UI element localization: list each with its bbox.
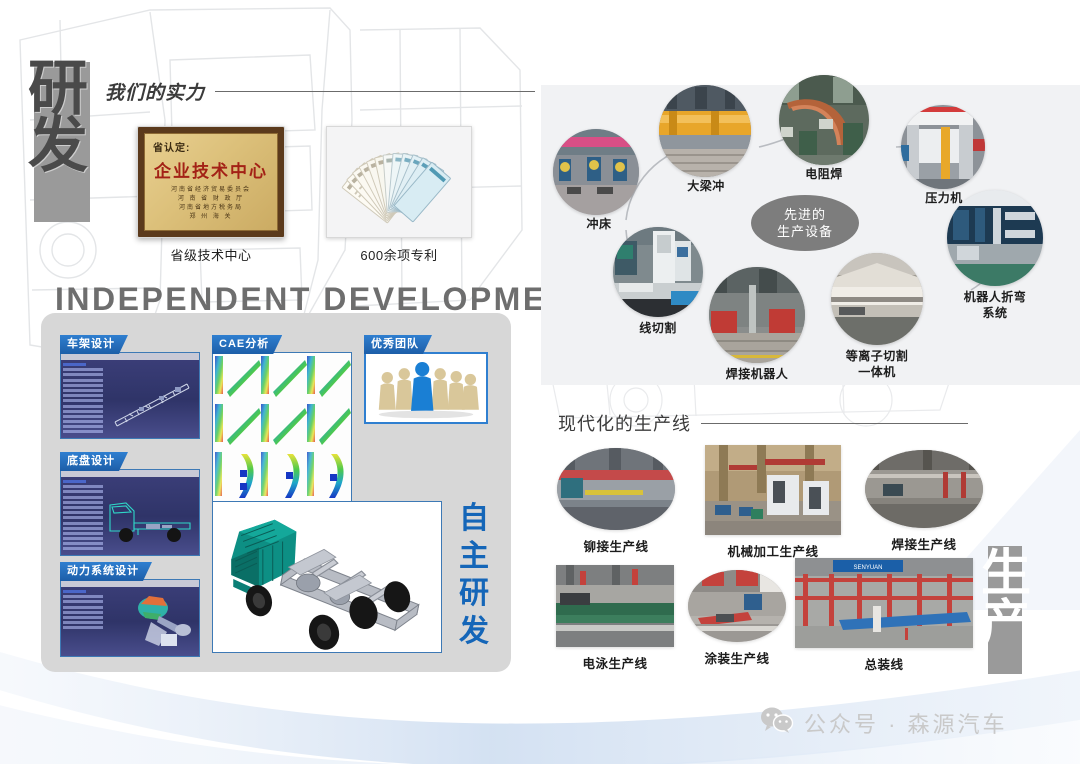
production-line-item-machining[interactable]: 机械加工生产线 xyxy=(705,445,841,560)
production-line-photo-riveting xyxy=(557,448,675,530)
equipment-photo-wire-cutting xyxy=(613,227,703,317)
credential-caption-tech-center: 省级技术中心 xyxy=(137,245,285,264)
rd-screen-cae-analysis xyxy=(212,352,352,504)
production-line-caption-electrophoresis: 电泳生产线 xyxy=(556,653,674,672)
cad-menubar xyxy=(61,353,199,360)
rd-tab-excellent-team[interactable]: 优秀团队 xyxy=(364,335,432,354)
section-heading-strength-label: 我们的实力 xyxy=(105,78,205,105)
equipment-photo-dianzuhan xyxy=(779,75,869,165)
poster-page: 研发 我们的实力 省认定: 企业技术中心 河南省经济贸易委员会 河 南 省 财 … xyxy=(0,0,1080,764)
equipment-node-welding-robot[interactable]: 焊接机器人 xyxy=(709,267,805,363)
rd-tab-cae-analysis[interactable]: CAE分析 xyxy=(212,335,282,354)
production-line-photo-painting xyxy=(688,570,786,642)
credential-card-tech-center: 省认定: 企业技术中心 河南省经济贸易委员会 河 南 省 财 政 厅 河南省地方… xyxy=(137,126,285,264)
plaque-issuer-3: 河南省地方税务局 xyxy=(153,204,269,213)
cad-menubar xyxy=(61,470,199,477)
plaque-issuer-4: 郑 州 海 关 xyxy=(153,213,269,222)
equipment-photo-welding-robot xyxy=(709,267,805,363)
cad-viewport xyxy=(61,470,199,555)
production-line-caption-assembly: 总装线 xyxy=(795,654,973,673)
cad-viewport xyxy=(61,580,199,656)
cae-fea-grid xyxy=(213,353,352,504)
cad-viewport xyxy=(61,353,199,438)
equipment-panel: 先进的 生产设备 冲床 xyxy=(541,85,1080,385)
section-heading-production-rule xyxy=(701,423,968,424)
rd-screen-chassis-design xyxy=(60,469,200,556)
plaque-title: 企业技术中心 xyxy=(153,157,269,182)
cad-tree xyxy=(63,480,110,551)
page-title-shengchan: 生产 xyxy=(974,548,1038,648)
production-line-photo-welding xyxy=(865,450,983,528)
equipment-node-dianzuhan[interactable]: 电阻焊 xyxy=(779,75,869,165)
section-heading-production: 现代化的生产线 xyxy=(558,410,968,436)
production-line-photo-assembly: SENYUAN xyxy=(795,558,973,648)
wechat-icon xyxy=(760,706,794,739)
production-line-item-assembly[interactable]: SENYUAN 总装线 xyxy=(795,558,973,673)
equipment-node-chongchuang[interactable]: 冲床 xyxy=(553,129,639,215)
equipment-node-daliangchong[interactable]: 大梁冲 xyxy=(659,85,751,177)
equipment-center-label: 先进的 生产设备 xyxy=(751,195,859,251)
equipment-label-welding-robot: 焊接机器人 xyxy=(707,367,807,383)
rd-tab-frame-design[interactable]: 车架设计 xyxy=(60,335,128,354)
equipment-photo-robot-bending xyxy=(947,190,1043,286)
equipment-label-robot-bending: 机器人折弯 系统 xyxy=(945,290,1045,321)
rd-screen-excellent-team xyxy=(364,352,488,424)
equipment-center-line1: 先进的 xyxy=(784,206,826,223)
svg-text:SENYUAN: SENYUAN xyxy=(853,565,882,571)
rd-screen-frame-design xyxy=(60,352,200,439)
plaque-issuer-2: 河 南 省 财 政 厅 xyxy=(153,195,269,204)
equipment-node-yalijii[interactable]: 压力机 xyxy=(901,105,985,189)
section-heading-production-label: 现代化的生产线 xyxy=(558,410,691,436)
self-research-vertical-title: 自主研发 xyxy=(452,500,496,650)
full-truck-cad-model xyxy=(213,502,441,652)
equipment-label-wire-cutting: 线切割 xyxy=(627,321,689,337)
cad-tree xyxy=(63,590,110,652)
equipment-label-plasma-cutting: 等离子切割 一体机 xyxy=(827,349,927,380)
equipment-photo-yaliji xyxy=(901,105,985,189)
production-line-caption-painting: 涂装生产线 xyxy=(688,648,786,667)
production-line-caption-welding: 焊接生产线 xyxy=(865,534,983,553)
production-line-photo-machining xyxy=(705,445,841,535)
section-heading-rule xyxy=(215,91,535,92)
production-line-item-electrophoresis[interactable]: 电泳生产线 xyxy=(556,565,674,672)
credential-card-patents: 600余项专利 xyxy=(326,126,472,264)
equipment-center-line2: 生产设备 xyxy=(777,223,833,240)
rd-tab-powertrain-design[interactable]: 动力系统设计 xyxy=(60,562,152,581)
equipment-photo-plasma-cutting xyxy=(831,253,923,345)
rd-tab-chassis-design[interactable]: 底盘设计 xyxy=(60,452,128,471)
tech-center-plaque: 省认定: 企业技术中心 河南省经济贸易委员会 河 南 省 财 政 厅 河南省地方… xyxy=(137,126,285,238)
equipment-photo-daliangchong xyxy=(659,85,751,177)
production-line-item-painting[interactable]: 涂装生产线 xyxy=(688,570,786,667)
equipment-label-daliangchong: 大梁冲 xyxy=(675,179,737,195)
rd-screen-full-truck-cad xyxy=(212,501,442,653)
production-line-caption-riveting: 铆接生产线 xyxy=(557,536,675,555)
plaque-inner: 省认定: 企业技术中心 河南省经济贸易委员会 河 南 省 财 政 厅 河南省地方… xyxy=(144,133,278,231)
production-line-item-welding[interactable]: 焊接生产线 xyxy=(865,450,983,553)
patents-photo xyxy=(326,126,472,238)
production-line-item-riveting[interactable]: 铆接生产线 xyxy=(557,448,675,555)
section-heading-strength: 我们的实力 xyxy=(105,78,535,105)
team-figures-illustration xyxy=(366,354,486,422)
equipment-node-robot-bending[interactable]: 机器人折弯 系统 xyxy=(947,190,1043,286)
production-line-photo-electrophoresis xyxy=(556,565,674,647)
powertrain-model xyxy=(109,590,197,652)
cad-menubar xyxy=(61,580,199,587)
cad-tree xyxy=(63,363,110,434)
equipment-node-plasma-cutting[interactable]: 等离子切割 一体机 xyxy=(831,253,923,345)
patent-certificates-fan xyxy=(327,127,471,237)
footer: 公众号 · 森源汽车 xyxy=(760,706,1008,739)
chassis-model xyxy=(104,493,196,545)
rd-screen-powertrain-design xyxy=(60,579,200,657)
plaque-issuer-1: 河南省经济贸易委员会 xyxy=(153,186,269,195)
equipment-label-dianzuhan: 电阻焊 xyxy=(795,167,853,183)
credential-caption-patents: 600余项专利 xyxy=(326,245,472,264)
footer-label: 公众号 · 森源汽车 xyxy=(804,707,1008,739)
frame-rail-model xyxy=(109,374,197,432)
plaque-line-1: 省认定: xyxy=(153,139,269,154)
equipment-node-wire-cutting[interactable]: 线切割 xyxy=(613,227,703,317)
equipment-photo-chongchuang xyxy=(553,129,639,215)
